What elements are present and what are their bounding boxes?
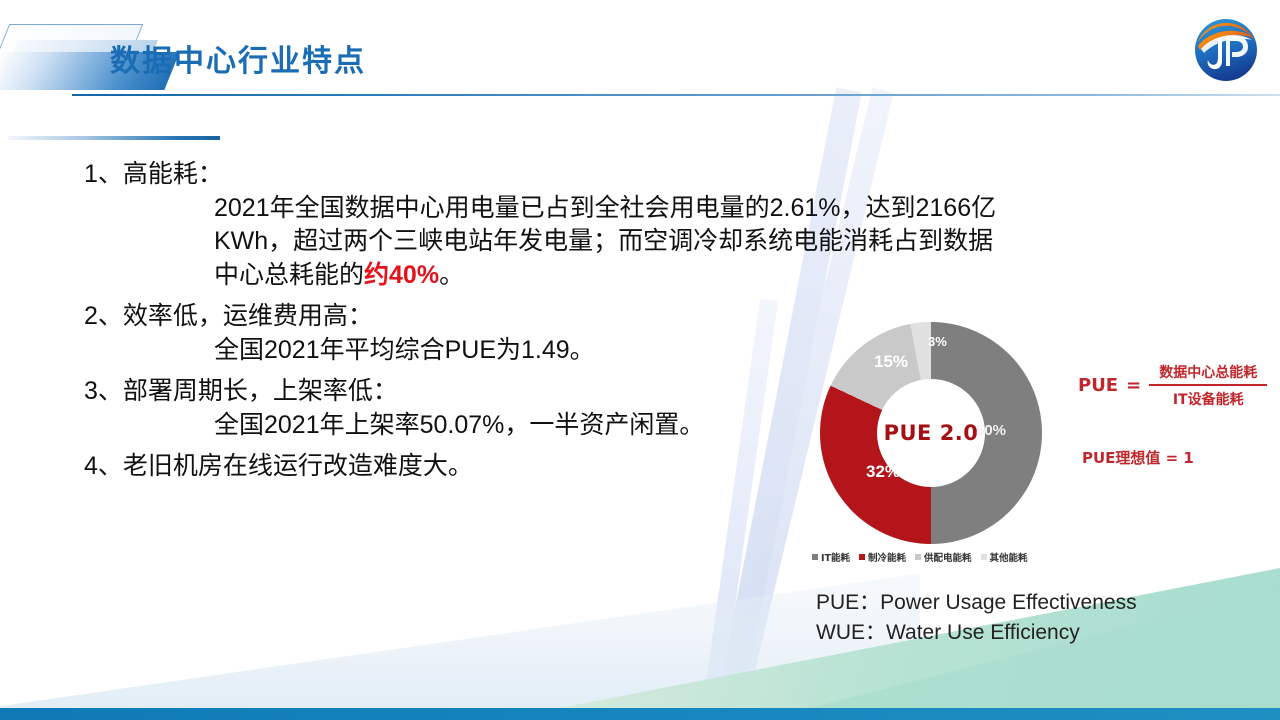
grey-wedge-shape: [0, 502, 920, 712]
legend-item-3: 其他能耗: [981, 550, 1028, 564]
legend-label: 其他能耗: [990, 550, 1028, 564]
page-title: 数据中心行业特点: [110, 36, 366, 80]
list-item-1-body: 2021年全国数据中心用电量已占到全社会用电量的2.61%，达到2166亿 KW…: [214, 192, 800, 293]
pue-formula-row: PUE = 数据中心总能耗 IT设备能耗: [1078, 362, 1274, 409]
slide-header: 数据中心行业特点: [0, 0, 1280, 100]
pue-ideal-value: PUE理想值 = 1: [1082, 447, 1274, 468]
glossary-wue: WUE：Water Use Efficiency: [816, 618, 1137, 648]
highlight-percent: 约40%: [364, 261, 439, 289]
chart-legend: IT能耗制冷能耗供配电能耗其他能耗: [812, 550, 1050, 564]
legend-label: 制冷能耗: [868, 550, 906, 564]
list-item-1-line-1: 2021年全国数据中心用电量已占到全社会用电量的2.61%，达到2166亿: [214, 192, 800, 226]
list-item-2-heading: 2、效率低，运维费用高：: [84, 300, 800, 334]
pue-formula-fraction: 数据中心总能耗 IT设备能耗: [1149, 362, 1267, 409]
list-item-3-heading: 3、部署周期长，上架率低：: [84, 375, 800, 409]
pue-formula-label: PUE: [1078, 375, 1118, 396]
list-item-3-line-1: 全国2021年上架率50.07%，一半资产闲置。: [214, 409, 800, 443]
bottom-accent-bar: [0, 708, 1280, 720]
header-divider-line: [72, 94, 1280, 96]
slide-root: 数据中心行业特点: [0, 0, 1280, 720]
list-item-1-line-3-text: 中心总耗能的: [214, 261, 364, 289]
list-item-4-heading: 4、老旧机房在线运行改造难度大。: [84, 450, 800, 484]
content-list: 1、高能耗： 2021年全国数据中心用电量已占到全社会用电量的2.61%，达到2…: [0, 150, 800, 484]
list-item-1-line-2: KWh，超过两个三峡电站年发电量；而空调冷却系统电能消耗占到数据: [214, 225, 800, 259]
pue-donut-chart: PUE 2.0 50% 32% 15% 3% IT能耗制冷能耗供配电能耗其他能耗: [812, 322, 1050, 572]
legend-swatch-icon: [812, 554, 818, 560]
slice-label-it: 50%: [976, 422, 1006, 439]
list-item-1-heading: 1、高能耗：: [84, 158, 800, 192]
legend-label: 供配电能耗: [924, 550, 972, 564]
slice-label-other: 3%: [928, 334, 947, 349]
legend-swatch-icon: [981, 554, 987, 560]
list-item-1-tail: 。: [439, 261, 464, 289]
list-item-3-body: 全国2021年上架率50.07%，一半资产闲置。: [214, 409, 800, 443]
pue-formula: PUE = 数据中心总能耗 IT设备能耗 PUE理想值 = 1: [1078, 362, 1274, 468]
pue-formula-denominator: IT设备能耗: [1169, 386, 1248, 409]
legend-label: IT能耗: [821, 550, 850, 564]
slice-label-power: 15%: [874, 352, 908, 372]
company-logo: [1192, 16, 1260, 84]
legend-swatch-icon: [859, 554, 865, 560]
list-item-2-body: 全国2021年平均综合PUE为1.49。: [214, 334, 800, 368]
glossary-block: PUE：Power Usage Effectiveness WUE：Water …: [816, 588, 1137, 648]
slice-label-cooling: 32%: [866, 462, 900, 482]
glossary-pue: PUE：Power Usage Effectiveness: [816, 588, 1137, 618]
donut-center-label: PUE 2.0: [884, 421, 979, 445]
list-item-2-line-1: 全国2021年平均综合PUE为1.49。: [214, 334, 800, 368]
legend-swatch-icon: [915, 554, 921, 560]
title-accent-underline: [8, 136, 220, 140]
legend-item-2: 供配电能耗: [915, 550, 972, 564]
legend-item-1: 制冷能耗: [859, 550, 906, 564]
legend-item-0: IT能耗: [812, 550, 850, 564]
list-item-1-line-3: 中心总耗能的约40%。: [214, 259, 800, 293]
pue-formula-numerator: 数据中心总能耗: [1155, 362, 1261, 384]
pue-formula-equals: =: [1126, 375, 1141, 396]
